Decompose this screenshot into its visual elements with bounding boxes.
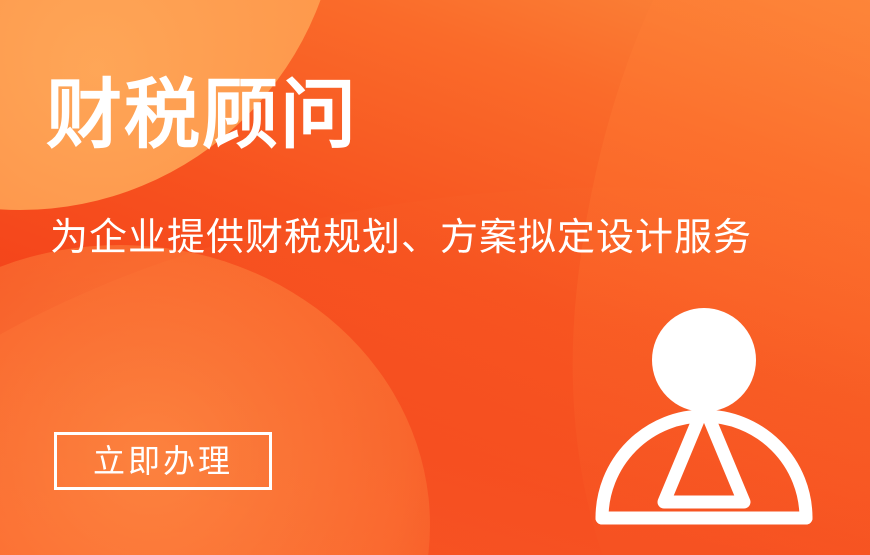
- person-advisor-icon: [592, 302, 824, 530]
- banner-headline: 财税顾问: [46, 78, 358, 154]
- banner-content: 财税顾问 为企业提供财税规划、方案拟定设计服务 立即办理: [0, 0, 870, 555]
- banner-subheadline: 为企业提供财税规划、方案拟定设计服务: [50, 216, 752, 262]
- apply-now-button[interactable]: 立即办理: [54, 432, 272, 490]
- promo-banner: 财税顾问 为企业提供财税规划、方案拟定设计服务 立即办理: [0, 0, 870, 555]
